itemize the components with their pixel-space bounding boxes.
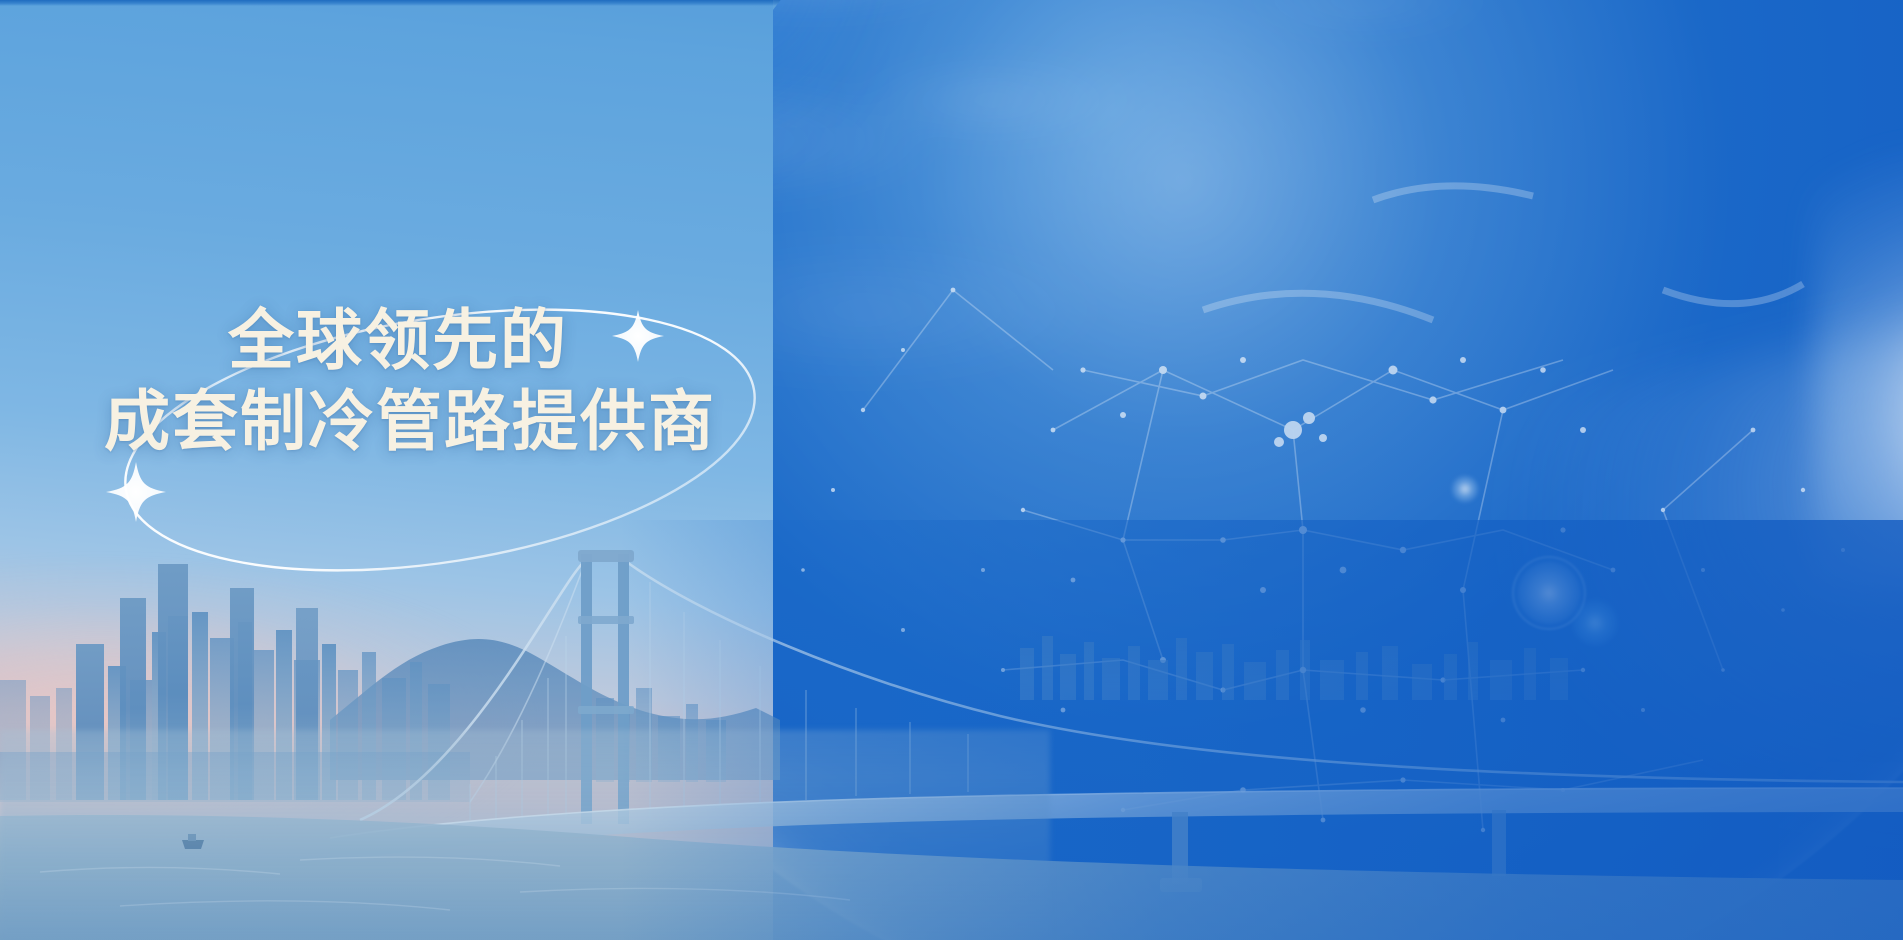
bottom-fade — [0, 870, 1903, 940]
headline-line-2: 成套制冷管路提供商 — [104, 381, 824, 462]
hero-banner: 全球领先的 成套制冷管路提供商 — [0, 0, 1903, 940]
headline-line-1: 全球领先的 — [228, 300, 824, 381]
page-title: 全球领先的 成套制冷管路提供商 — [104, 300, 824, 461]
